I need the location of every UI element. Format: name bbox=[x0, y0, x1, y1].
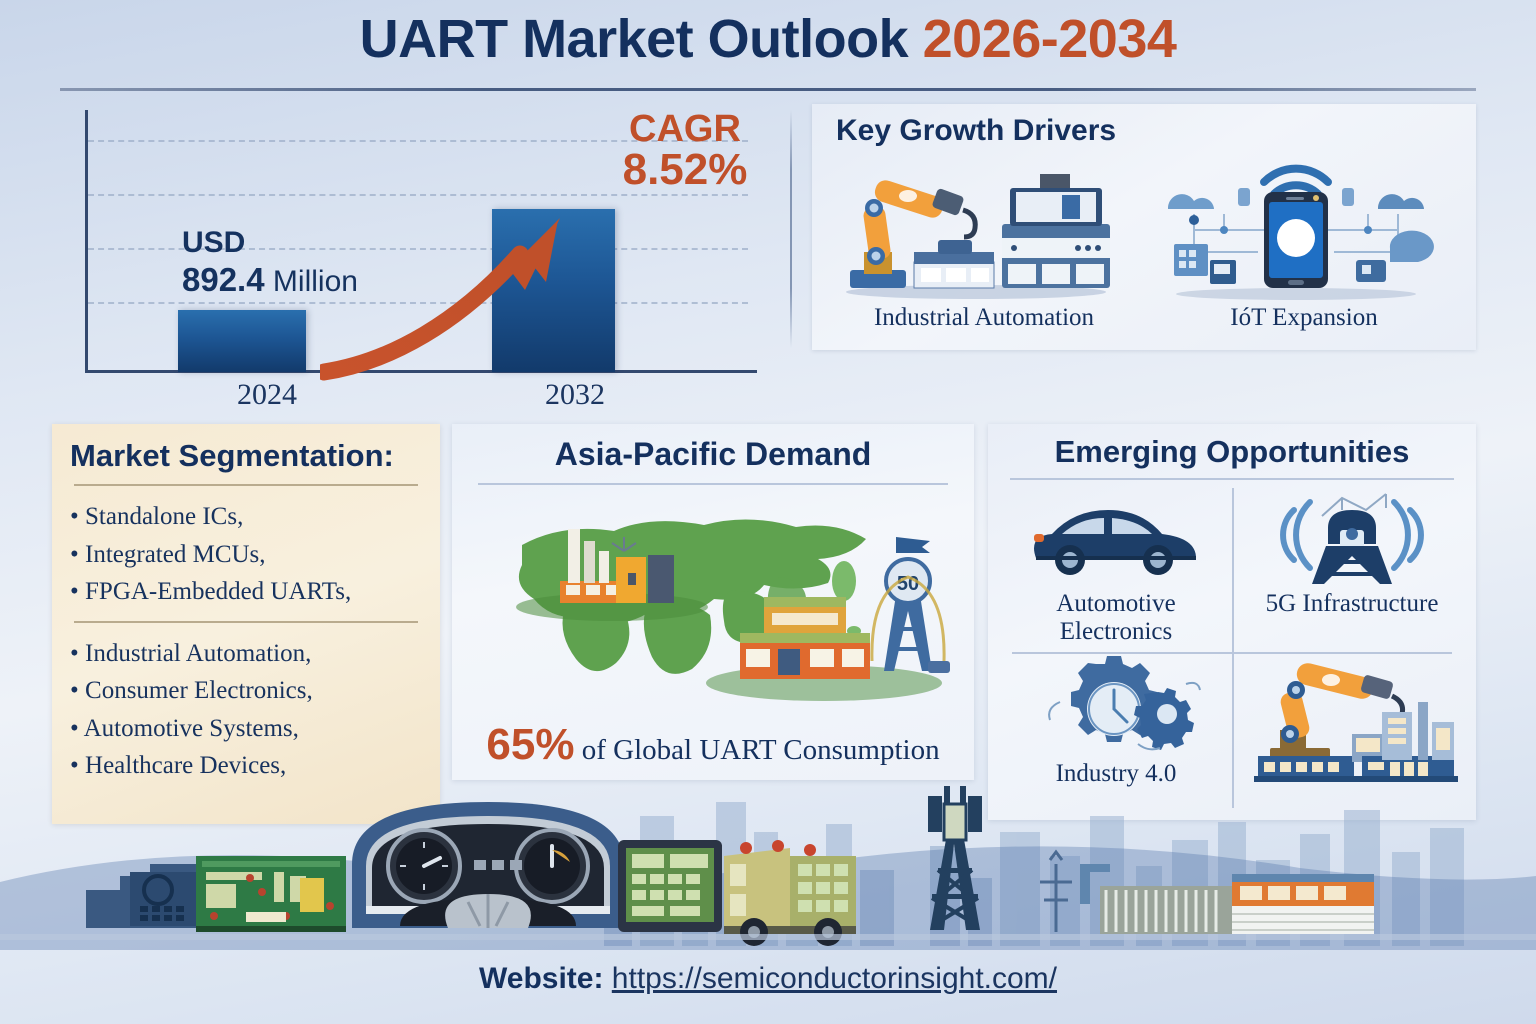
infographic-page: UART Market Outlook 2026-2034 bbox=[0, 0, 1536, 1024]
emerging-opportunities-title: Emerging Opportunities bbox=[988, 424, 1476, 470]
emerging-caption: AutomotiveElectronics bbox=[1000, 590, 1232, 645]
list-item: Automotive Systems, bbox=[70, 710, 422, 748]
chart-y-axis bbox=[85, 110, 88, 372]
emerging-item-5g: 5G Infrastructure bbox=[1236, 486, 1468, 618]
market-segmentation-title: Market Segmentation: bbox=[70, 438, 422, 474]
website-url[interactable]: https://semiconductorinsight.com/ bbox=[612, 962, 1057, 995]
title-main-text: UART Market Outlook bbox=[360, 9, 923, 69]
growth-driver-item: Industrial Automation bbox=[826, 152, 1142, 332]
segmentation-divider bbox=[74, 484, 418, 486]
segmentation-list-type: Standalone ICs, Integrated MCUs, FPGA-Em… bbox=[70, 498, 422, 611]
emerging-item-automotive: AutomotiveElectronics bbox=[1000, 486, 1232, 645]
list-item: Standalone ICs, bbox=[70, 498, 422, 536]
cagr-value: 8.52% bbox=[585, 148, 785, 192]
growth-driver-item: IóT Expansion bbox=[1146, 152, 1462, 332]
car-icon bbox=[1000, 486, 1232, 590]
bottom-illustration-band bbox=[0, 760, 1536, 950]
value-number: 892.4 bbox=[182, 261, 265, 298]
list-item: Integrated MCUs, bbox=[70, 536, 422, 574]
website-label: Website: bbox=[479, 962, 612, 995]
cagr-callout: CAGR 8.52% bbox=[585, 110, 785, 192]
robot-arm-factory-icon bbox=[826, 152, 1142, 302]
value-unit: Million bbox=[265, 265, 358, 298]
emerging-caption: 5G Infrastructure bbox=[1236, 590, 1468, 618]
list-item: FPGA-Embedded UARTs, bbox=[70, 573, 422, 611]
asia-pacific-panel: Asia-Pacific Demand bbox=[452, 424, 974, 780]
page-title: UART Market Outlook 2026-2034 bbox=[0, 8, 1536, 70]
smartphone-iot-network-icon bbox=[1146, 152, 1462, 302]
world-map-green-icon: 50 bbox=[452, 485, 974, 715]
list-item: Industrial Automation, bbox=[70, 635, 422, 673]
key-growth-drivers-title: Key Growth Drivers bbox=[836, 114, 1116, 148]
footer: Website: https://semiconductorinsight.co… bbox=[0, 962, 1536, 996]
value-currency-label: USD bbox=[182, 226, 442, 261]
growth-driver-caption: IóT Expansion bbox=[1146, 304, 1462, 332]
gears-icon bbox=[1000, 656, 1232, 760]
chart-gridline bbox=[88, 194, 748, 196]
asia-pacific-title: Asia-Pacific Demand bbox=[452, 424, 974, 473]
list-item: Consumer Electronics, bbox=[70, 672, 422, 710]
title-year-range: 2026-2034 bbox=[923, 9, 1177, 69]
cagr-label: CAGR bbox=[585, 110, 785, 148]
x-tick-2024: 2024 bbox=[187, 378, 347, 412]
market-value-callout: USD 892.4 Million bbox=[182, 226, 442, 299]
key-growth-drivers-panel: Key Growth Drivers bbox=[812, 104, 1476, 350]
market-growth-chart: USD 892.4 Million CAGR 8.52% 2024 2032 bbox=[60, 102, 780, 418]
section-divider-vertical bbox=[790, 110, 792, 348]
asia-pacific-illustration: 50 bbox=[452, 485, 974, 715]
growth-driver-caption: Industrial Automation bbox=[826, 304, 1142, 332]
bar-2024 bbox=[178, 310, 306, 372]
x-tick-2032: 2032 bbox=[495, 378, 655, 412]
cell-tower-signal-icon bbox=[1236, 486, 1468, 590]
segmentation-divider bbox=[74, 621, 418, 623]
title-divider bbox=[60, 88, 1476, 91]
